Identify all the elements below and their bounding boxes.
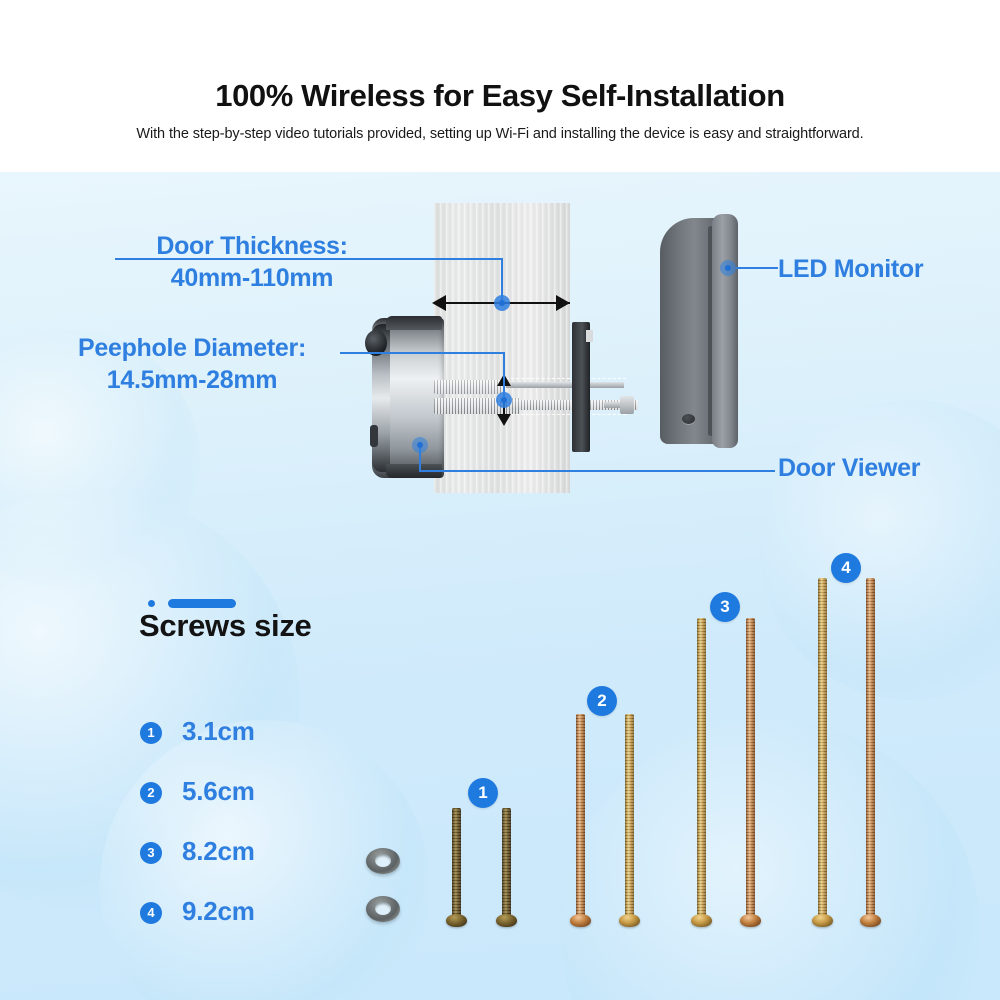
callout-door-viewer: Door Viewer <box>778 452 920 484</box>
screw-group-badge-2: 2 <box>587 686 617 716</box>
screw-shaft <box>818 578 827 920</box>
legend-badge-3: 3 <box>140 842 162 864</box>
screw-group-badge-1: 1 <box>468 778 498 808</box>
legend-size-3: 8.2cm <box>182 836 255 867</box>
door-panel <box>434 203 570 493</box>
legend-size-4: 9.2cm <box>182 896 255 927</box>
screw-shaft <box>502 808 511 920</box>
screw-shaft <box>452 808 461 920</box>
screw-head <box>740 914 761 927</box>
decorative-blob <box>760 400 1000 700</box>
legend-size-2: 5.6cm <box>182 776 255 807</box>
leader-led-monitor <box>736 267 778 269</box>
legend-badge-1: 1 <box>140 722 162 744</box>
header-band: 100% Wireless for Easy Self-Installation… <box>0 0 1000 172</box>
peephole-guide-line <box>506 378 626 379</box>
legend-badge-4: 4 <box>140 902 162 924</box>
screw-head <box>691 914 712 927</box>
screw-head <box>570 914 591 927</box>
peephole-guide-line <box>506 414 626 415</box>
screw-shaft <box>625 714 634 920</box>
page-title: 100% Wireless for Easy Self-Installation <box>0 78 1000 114</box>
list-item: 3 8.2cm <box>140 832 400 892</box>
mounting-plate-notch <box>586 330 593 342</box>
arrow-down-icon <box>497 414 511 426</box>
marker-peephole <box>496 392 512 408</box>
list-item: 1 3.1cm <box>140 712 400 772</box>
screw-head <box>496 914 517 927</box>
washer <box>366 848 400 874</box>
screw-head <box>812 914 833 927</box>
screw-shaft <box>697 618 706 920</box>
marker-door-viewer <box>412 437 428 453</box>
fixing-screw-head <box>620 396 634 414</box>
peephole-barrel-outer <box>434 380 506 394</box>
washer <box>366 896 400 922</box>
callout-peephole-line2: 14.5mm-28mm <box>42 364 342 396</box>
screw-shaft <box>866 578 875 920</box>
screw-head <box>860 914 881 927</box>
screws-section-heading: Screws size <box>139 608 311 644</box>
mounting-rod-top <box>506 382 624 388</box>
led-monitor-unit <box>660 218 738 444</box>
accent-dot-icon <box>148 600 155 607</box>
callout-led-monitor: LED Monitor <box>778 253 923 285</box>
list-item: 2 5.6cm <box>140 772 400 832</box>
camera-top-cap <box>386 316 442 330</box>
leader-door-viewer <box>419 470 775 472</box>
callout-peephole-diameter: Peephole Diameter: 14.5mm-28mm <box>42 332 342 396</box>
marker-door-thickness <box>494 295 510 311</box>
camera-side-tab <box>370 425 378 447</box>
monitor-front-edge <box>712 214 738 448</box>
page-subtitle: With the step-by-step video tutorials pr… <box>0 126 1000 142</box>
leader-peephole <box>340 352 504 354</box>
list-item: 4 9.2cm <box>140 892 400 952</box>
screw-shaft <box>746 618 755 920</box>
decorative-blob <box>560 720 980 1000</box>
callout-door-thickness-line1: Door Thickness: <box>156 232 347 260</box>
marker-led-monitor <box>720 260 736 276</box>
screw-head <box>446 914 467 927</box>
legend-size-1: 3.1cm <box>182 716 255 747</box>
screw-group-badge-3: 3 <box>710 592 740 622</box>
screws-legend: 1 3.1cm 2 5.6cm 3 8.2cm 4 9.2cm <box>140 712 400 952</box>
screw-shaft <box>576 714 585 920</box>
monitor-hole-icon <box>682 414 695 424</box>
legend-badge-2: 2 <box>140 782 162 804</box>
screw-head <box>619 914 640 927</box>
infographic-page: 100% Wireless for Easy Self-Installation… <box>0 0 1000 1000</box>
callout-peephole-line1: Peephole Diameter: <box>78 334 306 362</box>
arrow-right-icon <box>556 295 570 311</box>
callout-door-thickness: Door Thickness: 40mm-110mm <box>122 230 382 294</box>
callout-door-thickness-line2: 40mm-110mm <box>122 262 382 294</box>
accent-bar-icon <box>168 599 236 608</box>
arrow-left-icon <box>432 295 446 311</box>
screw-group-badge-4: 4 <box>831 553 861 583</box>
